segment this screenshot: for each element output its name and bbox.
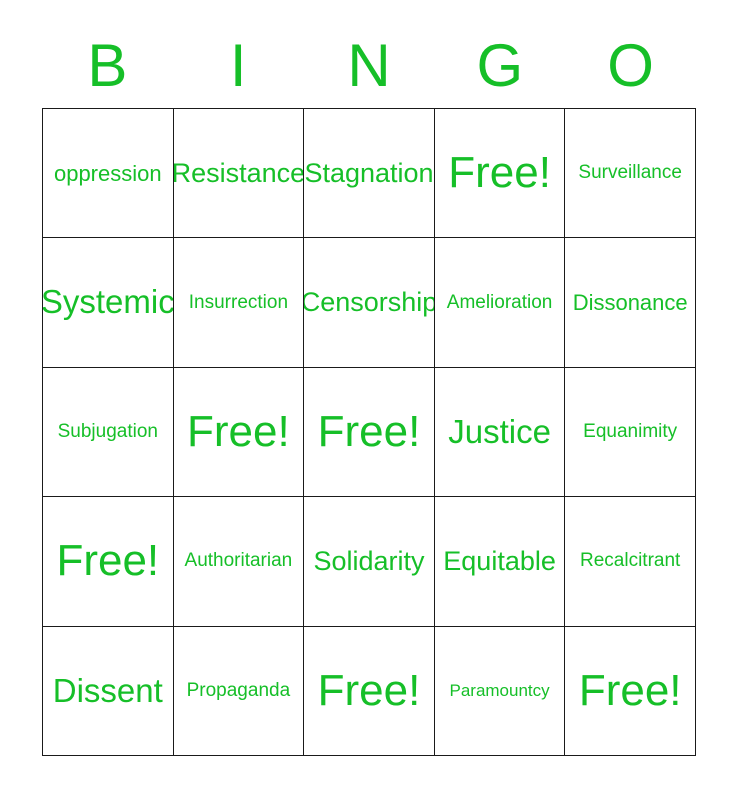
bingo-cell-label: Free! — [318, 668, 421, 714]
bingo-cell-label: Authoritarian — [185, 551, 293, 571]
bingo-cell-label: Paramountcy — [449, 682, 549, 700]
bingo-cell[interactable]: Stagnation — [304, 109, 435, 238]
bingo-cell-label: Surveillance — [578, 163, 682, 183]
bingo-cell-label: Systemic — [43, 285, 174, 320]
bingo-cell[interactable]: Surveillance — [565, 109, 696, 238]
bingo-card: B I N G O oppression Resistance Stagnati… — [0, 0, 736, 800]
bingo-cell[interactable]: Solidarity — [304, 497, 435, 626]
bingo-row: Systemic Insurrection Censorship Amelior… — [43, 238, 696, 367]
bingo-cell[interactable]: Dissent — [43, 627, 174, 756]
bingo-cell-label: Stagnation — [304, 159, 433, 187]
bingo-header-letter-g: G — [434, 30, 565, 102]
bingo-cell[interactable]: Recalcitrant — [565, 497, 696, 626]
bingo-cell-label: Equanimity — [583, 422, 677, 442]
bingo-cell-label: Amelioration — [447, 293, 553, 313]
bingo-cell-label: Solidarity — [313, 547, 424, 575]
bingo-cell-label: oppression — [54, 162, 162, 185]
bingo-cell-free[interactable]: Free! — [565, 627, 696, 756]
bingo-cell[interactable]: Subjugation — [43, 368, 174, 497]
bingo-cell-label: Censorship — [304, 288, 435, 316]
bingo-cell-label: Equitable — [443, 547, 556, 575]
bingo-cell-label: Subjugation — [58, 422, 158, 442]
bingo-header-letter-b: B — [42, 30, 173, 102]
bingo-cell-label: Free! — [448, 150, 551, 196]
bingo-cell[interactable]: Censorship — [304, 238, 435, 367]
bingo-cell[interactable]: Insurrection — [174, 238, 305, 367]
bingo-cell-label: Free! — [579, 668, 682, 714]
bingo-row: Subjugation Free! Free! Justice Equanimi… — [43, 368, 696, 497]
bingo-cell[interactable]: Authoritarian — [174, 497, 305, 626]
bingo-cell-label: Free! — [187, 409, 290, 455]
bingo-cell[interactable]: Paramountcy — [435, 627, 566, 756]
bingo-grid: oppression Resistance Stagnation Free! S… — [42, 108, 696, 756]
bingo-row: Dissent Propaganda Free! Paramountcy Fre… — [43, 627, 696, 756]
bingo-header-letter-i: I — [173, 30, 304, 102]
bingo-cell[interactable]: Dissonance — [565, 238, 696, 367]
bingo-cell-label: Free! — [318, 409, 421, 455]
bingo-row: Free! Authoritarian Solidarity Equitable… — [43, 497, 696, 626]
bingo-cell[interactable]: Resistance — [174, 109, 305, 238]
bingo-cell[interactable]: Amelioration — [435, 238, 566, 367]
bingo-cell-label: Dissent — [53, 674, 163, 709]
bingo-cell-free[interactable]: Free! — [174, 368, 305, 497]
bingo-cell-label: Propaganda — [187, 681, 291, 701]
bingo-row: oppression Resistance Stagnation Free! S… — [43, 109, 696, 238]
bingo-header-letter-o: O — [565, 30, 696, 102]
bingo-header: B I N G O — [42, 30, 696, 102]
bingo-cell-label: Dissonance — [573, 291, 688, 314]
bingo-cell-label: Resistance — [174, 159, 305, 187]
bingo-cell[interactable]: Equitable — [435, 497, 566, 626]
bingo-cell-free[interactable]: Free! — [304, 627, 435, 756]
bingo-cell[interactable]: Systemic — [43, 238, 174, 367]
bingo-cell-label: Justice — [448, 415, 551, 450]
bingo-cell-free[interactable]: Free! — [304, 368, 435, 497]
bingo-cell[interactable]: Equanimity — [565, 368, 696, 497]
bingo-cell[interactable]: Propaganda — [174, 627, 305, 756]
bingo-cell-free[interactable]: Free! — [435, 109, 566, 238]
bingo-cell-label: Free! — [56, 538, 159, 584]
bingo-cell-label: Insurrection — [189, 293, 288, 313]
bingo-cell-free[interactable]: Free! — [43, 497, 174, 626]
bingo-cell-label: Recalcitrant — [580, 551, 680, 571]
bingo-cell[interactable]: Justice — [435, 368, 566, 497]
bingo-cell[interactable]: oppression — [43, 109, 174, 238]
bingo-header-letter-n: N — [304, 30, 435, 102]
